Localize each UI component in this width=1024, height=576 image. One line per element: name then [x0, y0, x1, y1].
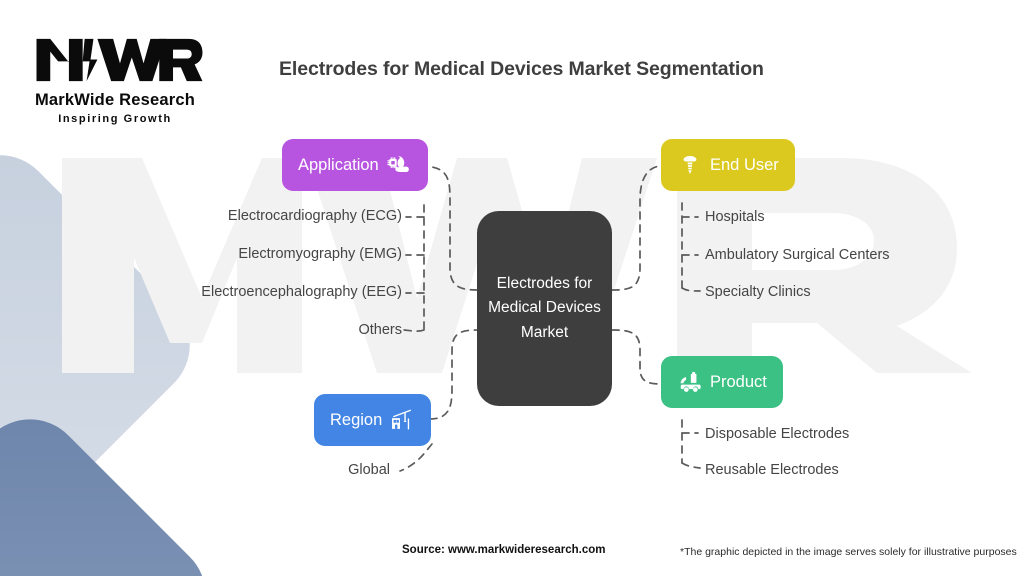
- leaf-product-2[interactable]: Reusable Electrodes: [705, 462, 839, 478]
- connector-application-leaf-4: [404, 330, 424, 331]
- source-note: Source: www.markwideresearch.com: [402, 544, 605, 556]
- leaf-group-application: Electrocardiography (ECG) Electromyograp…: [102, 208, 402, 360]
- delivery-truck-icon: [677, 369, 703, 395]
- dental-implant-icon: [677, 152, 703, 178]
- category-label-region: Region: [330, 411, 382, 430]
- leaf-end-user-3[interactable]: Specialty Clinics: [705, 284, 811, 300]
- category-badge-region[interactable]: Region: [314, 394, 431, 446]
- connector-product-leaf-2: [682, 463, 700, 468]
- leaf-end-user-1[interactable]: Hospitals: [705, 209, 765, 225]
- center-node-label: Electrodes for Medical Devices Market: [477, 272, 612, 344]
- leaf-application-2[interactable]: Electromyography (EMG): [102, 246, 402, 284]
- leaf-application-3[interactable]: Electroencephalography (EEG): [102, 284, 402, 322]
- brand-name: MarkWide Research: [22, 91, 208, 110]
- connector-center-product: [612, 330, 662, 384]
- mwr-logo-mark: [34, 30, 204, 85]
- hand-holding-chip-icon: [386, 152, 412, 178]
- connector-center-enduser: [612, 166, 662, 290]
- category-label-end-user: End User: [710, 156, 779, 175]
- connector-enduser-leaf-3: [682, 288, 700, 291]
- category-label-application: Application: [298, 156, 379, 175]
- category-badge-product[interactable]: Product: [661, 356, 783, 408]
- category-badge-application[interactable]: Application: [282, 139, 428, 191]
- disclaimer-note: *The graphic depicted in the image serve…: [680, 546, 1017, 558]
- leaf-end-user-2[interactable]: Ambulatory Surgical Centers: [705, 247, 890, 263]
- category-label-product: Product: [710, 373, 767, 392]
- leaf-region-1[interactable]: Global: [90, 462, 390, 478]
- construction-crane-icon: [389, 407, 415, 433]
- brand-logo: MarkWide Research Inspiring Growth: [22, 30, 222, 130]
- brand-tagline: Inspiring Growth: [22, 113, 208, 125]
- center-node[interactable]: Electrodes for Medical Devices Market: [477, 211, 612, 406]
- connector-region-leaf-1: [400, 444, 432, 471]
- category-badge-end-user[interactable]: End User: [661, 139, 795, 191]
- leaf-application-1[interactable]: Electrocardiography (ECG): [102, 208, 402, 246]
- leaf-application-4[interactable]: Others: [102, 322, 402, 360]
- leaf-group-region: Global: [90, 462, 390, 478]
- connector-region-center: [430, 330, 478, 419]
- page-title: Electrodes for Medical Devices Market Se…: [279, 58, 764, 81]
- decor-shape-dark: [0, 397, 228, 576]
- leaf-product-1[interactable]: Disposable Electrodes: [705, 426, 849, 442]
- connector-application-center: [420, 166, 478, 290]
